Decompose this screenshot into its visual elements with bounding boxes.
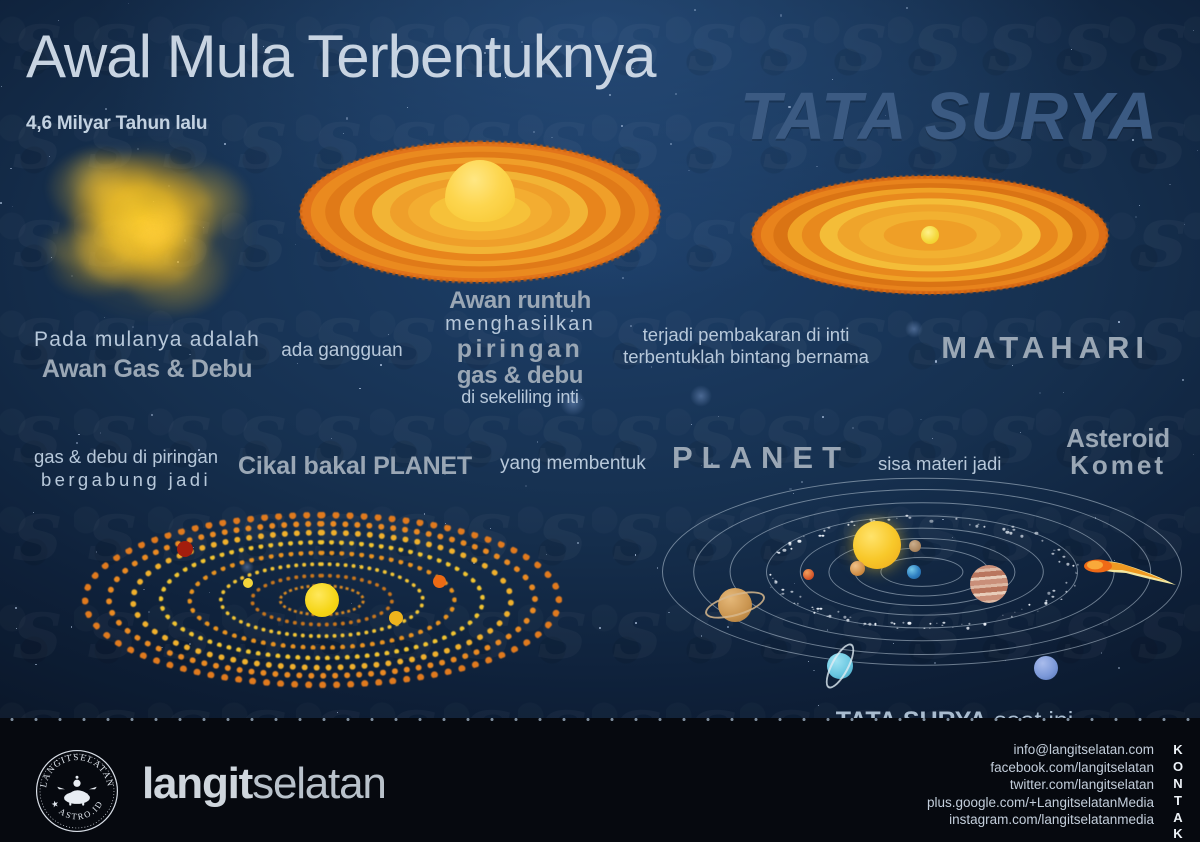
caption-matahari: MATAHARI [941, 330, 1150, 366]
star [407, 107, 408, 108]
dotted-divider [0, 718, 1200, 721]
asteroid [1020, 535, 1023, 538]
watermark-glyph: s [675, 98, 750, 196]
disk-outer-edge [299, 141, 661, 284]
star [801, 481, 803, 483]
cloud-wisp [137, 221, 167, 245]
caption-small-bodies-line1: Asteroid [1066, 425, 1170, 452]
asteroid [942, 622, 945, 625]
star [691, 424, 692, 425]
asteroid [893, 623, 895, 625]
saturn [718, 588, 752, 622]
asteroid [1012, 526, 1014, 528]
asteroid [781, 589, 784, 591]
star [935, 360, 937, 362]
star [635, 554, 636, 555]
watermark-glyph: s [375, 196, 450, 294]
star [51, 257, 52, 258]
disk-ring [354, 163, 606, 261]
star [780, 14, 782, 16]
asteroid [1045, 602, 1048, 604]
star [337, 712, 338, 713]
cloud-wisp [77, 224, 133, 279]
asteroid [814, 612, 816, 613]
caption-disk: Awan runtuh menghasilkan piringan gas & … [422, 288, 618, 408]
earth [907, 565, 921, 579]
asteroid [863, 622, 866, 625]
star [519, 263, 521, 265]
cloud-wisp [120, 208, 164, 250]
star [153, 201, 154, 202]
asteroid [783, 549, 787, 552]
star [58, 20, 59, 21]
present-day-solar-system-illustration [662, 500, 1182, 705]
asteroid [929, 623, 931, 625]
star [104, 317, 105, 318]
watermark-glyph: s [0, 196, 75, 294]
caption-ignition: terjadi pembakaran di inti terbentuklah … [612, 324, 880, 368]
asteroid [1003, 615, 1004, 616]
caption-gas-dust-cloud-line2: Awan Gas & Debu [24, 355, 270, 384]
star [1184, 224, 1185, 225]
kontak-vertical-label: KONTAK [1170, 742, 1186, 842]
watermark-glyph: s [975, 392, 1050, 490]
star-glow [905, 320, 923, 338]
asteroid [812, 606, 813, 607]
asteroid [837, 611, 839, 613]
cloud-wisp [116, 218, 163, 256]
star [599, 627, 601, 629]
star [498, 213, 500, 215]
disk-ring [837, 204, 1022, 265]
asteroid [790, 547, 793, 549]
watermark-glyph: s [375, 98, 450, 196]
asteroid [1065, 591, 1067, 593]
star [1118, 321, 1120, 323]
star [694, 9, 696, 11]
watermark-glyph: s [900, 196, 975, 294]
star [0, 202, 2, 204]
infographic-poster: ssssssssssssssssssssssssssssssssssssssss… [0, 0, 1200, 842]
star [100, 432, 102, 434]
asteroid [930, 520, 933, 523]
cloud-wisp [85, 164, 108, 184]
asteroid [854, 525, 856, 526]
star [105, 108, 107, 110]
cloud-wisp [127, 242, 173, 273]
asteroid [848, 524, 850, 526]
caption-ignition-line1: terjadi pembakaran di inti [612, 324, 880, 346]
watermark-glyph: s [600, 98, 675, 196]
star [808, 239, 810, 241]
caption-gas-dust-cloud: Pada mulanya adalah Awan Gas & Debu [24, 328, 270, 384]
star [1135, 216, 1137, 218]
watermark-glyph: s [150, 196, 225, 294]
cloud-wisp [149, 200, 178, 228]
star [816, 166, 818, 168]
star [1071, 49, 1072, 50]
star [688, 170, 689, 171]
star [533, 131, 535, 133]
asteroid [977, 523, 979, 525]
star-glow [690, 385, 712, 407]
star [388, 334, 389, 335]
caption-disk-line2: menghasilkan [422, 314, 618, 336]
mars [803, 569, 814, 580]
disk-ring [752, 176, 1108, 294]
star [1, 86, 2, 87]
asteroid [769, 574, 771, 576]
star [359, 388, 361, 390]
disk-ring [340, 157, 621, 266]
star [137, 148, 139, 150]
caption-gas-dust-cloud-line1: Pada mulanya adalah [24, 328, 270, 352]
disk-ring [390, 177, 570, 247]
star [128, 3, 129, 4]
star [822, 416, 824, 418]
cloud-wisp [144, 222, 204, 276]
kontak-letter-3: T [1170, 793, 1186, 810]
star [1197, 150, 1198, 151]
asteroid [1021, 609, 1022, 610]
cloud-wisp [137, 221, 167, 251]
star [382, 158, 383, 159]
asteroid [812, 608, 814, 610]
star [599, 233, 600, 234]
watermark-glyph: s [1125, 196, 1200, 294]
star [635, 622, 637, 624]
star [380, 364, 382, 366]
cloud-wisp [46, 231, 99, 263]
kontak-letter-0: K [1170, 742, 1186, 759]
star [613, 239, 614, 240]
watermark-glyph: s [525, 196, 600, 294]
disk-ring [884, 220, 977, 251]
uranus [827, 653, 853, 679]
star [906, 7, 908, 9]
cloud-wisp [145, 209, 175, 240]
star [621, 125, 623, 127]
star [71, 275, 73, 277]
cloud-wisp [156, 215, 195, 240]
watermark-glyph: s [675, 196, 750, 294]
cloud-wisp [149, 213, 185, 251]
caption-small-bodies: Asteroid Komet [1066, 425, 1170, 479]
star [838, 274, 840, 276]
star [12, 206, 13, 207]
watermark-glyph: s [750, 196, 825, 294]
cloud-wisp [93, 186, 139, 231]
star [879, 289, 880, 290]
collapsing-cloud-disk-illustration [300, 142, 660, 282]
asteroid [821, 535, 824, 537]
proto-planet-yellow [389, 611, 403, 625]
star [151, 414, 153, 416]
caption-forming: yang membentuk [500, 453, 646, 475]
disk-ring [408, 184, 552, 240]
brand-wordmark: langitselatan [142, 759, 386, 809]
star [410, 151, 411, 152]
asteroid [1014, 612, 1015, 613]
star [49, 156, 50, 157]
asteroid [969, 524, 970, 525]
jupiter [970, 565, 1008, 603]
asteroid [983, 526, 985, 528]
disk-ring [773, 183, 1086, 287]
caption-merge-line2: bergabung jadi [26, 469, 226, 492]
disk-ring [311, 146, 649, 278]
kontak-letter-4: A [1170, 810, 1186, 827]
langitselatan-seal-logo: LANGITSELATAN ★ ASTRO.ID [34, 748, 120, 834]
star [1169, 184, 1171, 186]
watermark-glyph: s [450, 98, 525, 196]
star [168, 185, 170, 187]
contact-item-2[interactable]: twitter.com/langitselatan [927, 776, 1154, 794]
star [880, 264, 882, 266]
forming-planetary-system-illustration [82, 512, 562, 688]
brand-light: selatan [252, 759, 385, 808]
asteroid [824, 530, 825, 531]
watermark-glyph: s [225, 98, 300, 196]
asteroid [1058, 549, 1061, 551]
caption-matahari-label: MATAHARI [941, 330, 1150, 366]
star [537, 441, 539, 443]
star [16, 628, 17, 629]
asteroid [983, 623, 986, 626]
protoplanetary-disk-illustration [752, 176, 1108, 294]
disk-ring [788, 188, 1073, 282]
star [331, 438, 332, 439]
star [203, 227, 204, 228]
watermark-glyph: s [0, 588, 75, 686]
asteroid [902, 622, 905, 624]
caption-ignition-line2: terbentuklah bintang bernama [612, 346, 880, 368]
cloud-wisp [132, 228, 149, 245]
disk-central-bulge [445, 160, 515, 222]
watermark-glyph: s [525, 98, 600, 196]
star [932, 438, 933, 439]
asteroid [1058, 560, 1061, 562]
asteroid [908, 622, 912, 625]
cloud-wisp [172, 205, 196, 220]
kontak-letter-2: N [1170, 776, 1186, 793]
asteroid [800, 596, 802, 597]
star [177, 261, 179, 263]
asteroid [1034, 532, 1038, 535]
asteroid [1002, 528, 1005, 531]
star [76, 442, 78, 444]
watermark-glyph: s [975, 196, 1050, 294]
star [1039, 392, 1041, 394]
asteroid [1041, 539, 1043, 541]
cloud-wisp [128, 215, 178, 268]
contact-item-1[interactable]: facebook.com/langitselatan [927, 759, 1154, 777]
star [78, 434, 80, 436]
asteroid [942, 625, 944, 626]
star [1020, 432, 1021, 433]
gas-dust-cloud-texture [26, 122, 278, 340]
proto-star [305, 583, 339, 617]
watermark-glyph: s [300, 196, 375, 294]
caption-planet-label: PLANET [672, 440, 850, 476]
star [343, 133, 344, 134]
cloud-wisp [141, 219, 175, 246]
asteroid [849, 616, 851, 618]
star [184, 239, 186, 241]
star [1063, 392, 1064, 393]
cloud-wisp [72, 154, 123, 203]
star [71, 626, 73, 628]
asteroid [956, 518, 958, 519]
cloud-wisp [144, 229, 170, 249]
comet [1082, 554, 1182, 588]
disk-ring [820, 198, 1041, 271]
asteroid [868, 623, 871, 625]
cloud-wisp [137, 222, 166, 247]
asteroid [1052, 589, 1056, 592]
disk-ring [325, 152, 635, 272]
asteroid [793, 603, 795, 605]
caption-leftover: sisa materi jadi [878, 453, 1001, 475]
asteroid [798, 540, 801, 543]
proto-planet-small-yellow [243, 578, 253, 588]
page-title: Awal Mula Terbentuknya [26, 22, 656, 91]
cloud-wisp [117, 189, 142, 202]
disk-ring [802, 193, 1058, 278]
star [609, 94, 611, 96]
asteroid [791, 591, 794, 593]
disk-ring [859, 211, 1001, 258]
star [33, 512, 34, 513]
star [1193, 30, 1194, 31]
kontak-letter-5: K [1170, 826, 1186, 842]
gas-dust-cloud-illustration [26, 122, 278, 340]
cloud-wisp [85, 233, 140, 291]
asteroid [774, 581, 777, 583]
disk-core-star [921, 226, 939, 244]
star [550, 216, 551, 217]
disk-ring [430, 192, 531, 231]
star [622, 277, 624, 279]
asteroid [1028, 604, 1030, 606]
cloud-wisp [130, 218, 172, 249]
asteroid [896, 518, 897, 519]
neptune [1034, 656, 1058, 680]
disk-ring [761, 179, 1099, 291]
caption-small-bodies-line2: Komet [1066, 452, 1170, 479]
caption-merge: gas & debu di piringan bergabung jadi [26, 446, 226, 491]
watermark-glyph: s [675, 0, 750, 98]
asteroid [936, 623, 938, 624]
caption-merge-line1: gas & debu di piringan [26, 446, 226, 469]
asteroid [1009, 532, 1012, 535]
asteroid [819, 607, 822, 609]
asteroid [887, 519, 890, 521]
cloud-wisp [135, 208, 175, 240]
star [1193, 454, 1194, 455]
cloud-wisp [149, 230, 165, 240]
star [718, 416, 719, 417]
watermark-glyph: s [825, 196, 900, 294]
star [224, 143, 226, 145]
caption-forming-line1: yang membentuk [500, 453, 646, 475]
big-title-tata-surya: TATA SURYA [740, 78, 1158, 155]
asteroid [908, 516, 911, 519]
star [295, 244, 296, 245]
watermark-glyph: s [450, 196, 525, 294]
caption-protoplanet-label: Cikal bakal PLANET [238, 452, 472, 481]
asteroid [1051, 552, 1054, 554]
contact-item-3[interactable]: plus.google.com/+LangitselatanMedia [927, 794, 1154, 812]
watermark-glyph: s [900, 392, 975, 490]
caption-leftover-line1: sisa materi jadi [878, 453, 1001, 475]
contact-item-4[interactable]: instagram.com/langitselatanmedia [927, 811, 1154, 829]
star [1139, 205, 1140, 206]
star [670, 143, 672, 145]
asteroid [1048, 592, 1051, 594]
star [551, 137, 553, 139]
cloud-wisp [90, 235, 150, 282]
star [1182, 379, 1183, 380]
cloud-wisp [109, 216, 131, 236]
watermark-glyph: s [600, 196, 675, 294]
venus [850, 561, 865, 576]
star [15, 607, 17, 609]
star [297, 363, 298, 364]
star [35, 664, 37, 666]
star [346, 117, 348, 119]
cloud-wisp [143, 219, 164, 241]
watermark-glyph: s [300, 98, 375, 196]
disk-ring [300, 142, 660, 282]
caption-disk-line5: di sekeliling inti [422, 388, 618, 407]
cloud-wisp [138, 224, 168, 246]
kontak-letter-1: O [1170, 759, 1186, 776]
asteroid-belt [776, 518, 1067, 625]
disk-ring [372, 170, 588, 254]
star [577, 542, 579, 544]
cloud-wisp [143, 210, 161, 224]
star [797, 212, 798, 213]
asteroid [1074, 585, 1075, 586]
caption-disturbance-line1: ada gangguan [278, 340, 406, 362]
asteroid [1007, 529, 1009, 530]
disk-outer-edge [751, 175, 1109, 295]
star [920, 419, 922, 421]
star [472, 238, 473, 239]
caption-disk-line3: piringan [422, 336, 618, 363]
asteroid [1012, 528, 1015, 530]
watermark-glyph: s [1050, 196, 1125, 294]
watermark-glyph: s [0, 490, 75, 588]
star [10, 168, 12, 170]
star [675, 93, 677, 95]
contact-item-0[interactable]: info@langitselatan.com [927, 741, 1154, 759]
watermark-glyph: s [225, 196, 300, 294]
caption-disk-line4: gas & debu [422, 363, 618, 389]
watermark-glyph: s [75, 196, 150, 294]
caption-disk-line1: Awan runtuh [422, 288, 618, 314]
star [543, 223, 545, 225]
cloud-wisp [159, 208, 177, 220]
star [852, 427, 854, 429]
asteroid [816, 607, 819, 609]
caption-planet: PLANET [672, 440, 850, 476]
contact-list: info@langitselatan.comfacebook.com/langi… [927, 741, 1154, 829]
cloud-wisp [143, 216, 176, 234]
caption-protoplanet: Cikal bakal PLANET [238, 452, 472, 481]
asteroid [827, 616, 829, 617]
